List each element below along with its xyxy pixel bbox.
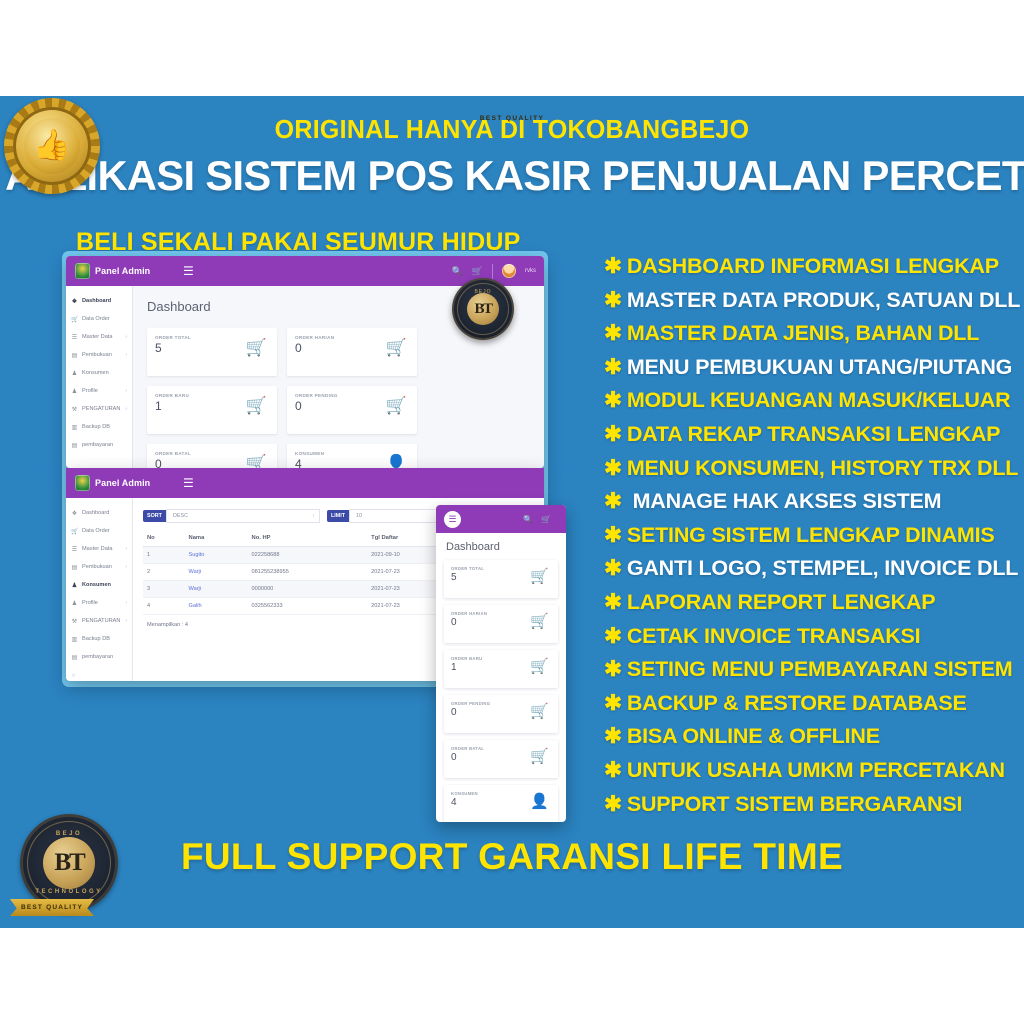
sidebar-item-master-data[interactable]: ☰Master Data› [66,540,132,558]
user-plus-icon: 👤 [386,455,407,468]
table-cell-hp: 0000000 [248,581,368,598]
wrench-icon: ⚒ [71,406,78,413]
chevron-right-icon: › [125,600,127,606]
mobile-stat-card[interactable]: ORDER PENDING0🛒 [444,695,558,733]
table-cell-nama: Sugito [185,547,248,564]
asterisk-icon: ✱ [604,691,622,715]
feature-label: BISA ONLINE & OFFLINE [627,724,880,748]
chevron-right-icon: › [125,618,127,624]
badge-crown-text: BEJO [452,289,514,295]
sidebar-item-backup-db[interactable]: ▥Backup DB [66,418,132,436]
feature-label: MENU PEMBUKUAN UTANG/PIUTANG [627,355,1012,379]
sidebar-item-label: Master Data [82,546,112,552]
feature-item: ✱CETAK INVOICE TRANSAKSI [604,620,1024,654]
stat-card[interactable]: ORDER PENDING0🛒 [287,386,417,434]
feature-label: CETAK INVOICE TRANSAKSI [627,624,921,648]
asterisk-icon: ✱ [604,657,622,681]
stat-card[interactable]: ORDER BARU1🛒 [147,386,277,434]
sidebar-item-label: Backup DB [82,636,110,642]
avatar[interactable] [502,264,516,278]
table-cell-hp: 081255238955 [248,564,368,581]
sidebar-item-label: Data Order [82,316,110,322]
user-icon: ♟ [71,582,78,589]
file-icon: ☰ [71,546,78,553]
feature-label: MANAGE HAK AKSES SISTEM [627,489,942,513]
seal-core: 👍 [24,118,80,174]
wrench-icon: ⚒ [71,618,78,625]
sidebar-item-dashboard[interactable]: ❖Dashboard [66,292,132,310]
stat-card[interactable]: ORDER BATAL0🛒 [147,444,277,468]
cart-icon: 🛒 [530,749,549,764]
chevron-right-icon: › [125,546,127,552]
sidebar-item-data-order[interactable]: 🛒Data Order [66,310,132,328]
table-cell-nama: Warji [185,581,248,598]
feature-label: LAPORAN REPORT LENGKAP [627,590,936,614]
sidebar-footer: © [66,666,132,678]
sidebar-item-profile[interactable]: ♟Profile› [66,382,132,400]
bt-watermark-badge: BEJO BT [452,278,514,340]
app-topbar-2: Panel Admin ☰ [66,468,544,498]
sidebar-item-label: pembayaran [82,654,113,660]
asterisk-icon: ✱ [604,523,622,547]
mobile-stat-card[interactable]: ORDER BARU1🛒 [444,650,558,688]
sidebar-item-pembayaran[interactable]: ▤pembayaran [66,436,132,454]
seal-bottom-text: TECHNOLOGY [20,889,118,895]
sidebar-item-data-order[interactable]: 🛒Data Order [66,522,132,540]
sidebar-item-master-data[interactable]: ☰Master Data› [66,328,132,346]
asterisk-icon: ✱ [604,590,622,614]
sidebar-item-konsumen[interactable]: ♟Konsumen [66,364,132,382]
app-brand-label-2: Panel Admin [95,478,150,488]
sidebar-item-label: pembayaran [82,442,113,448]
mobile-topbar: ☰ 🔍 🛒 [436,505,566,533]
sidebar-2: ❖Dashboard🛒Data Order☰Master Data›▤Pembu… [66,498,133,681]
sidebar-item-pembukuan[interactable]: ▤Pembukuan› [66,346,132,364]
bejo-technology-seal: BEJO BT TECHNOLOGY [20,814,118,912]
sidebar-item-pembukuan[interactable]: ▤Pembukuan› [66,558,132,576]
sidebar-item-label: Dashboard [82,298,111,304]
table-cell-hp: 022258688 [248,547,368,564]
mobile-stat-card[interactable]: ORDER TOTAL5🛒 [444,560,558,598]
app-brand-label: Panel Admin [95,266,150,276]
asterisk-icon: ✱ [604,321,622,345]
mobile-topbar-actions: 🔍 🛒 [523,515,559,524]
limit-tag: LIMIT [327,510,349,522]
table-cell-nama: Galih [185,598,248,615]
payment-icon: ▤ [71,442,78,449]
feature-item: ✱ MANAGE HAK AKSES SISTEM [604,485,1024,519]
file-icon: ☰ [71,334,78,341]
cart-icon: 🛒 [71,316,78,323]
sidebar-item-label: Dashboard [82,510,109,516]
stat-card[interactable]: ORDER HARIAN0🛒 [287,328,417,376]
table-column-header[interactable]: Nama [185,530,248,547]
feature-item: ✱SETING SISTEM LENGKAP DINAMIS [604,519,1024,553]
cart-icon: 🛒 [530,614,549,629]
mobile-stat-card[interactable]: ORDER BATAL0🛒 [444,740,558,778]
feature-label: UNTUK USAHA UMKM PERCETAKAN [627,758,1005,782]
sidebar-item-pembayaran[interactable]: ▤pembayaran [66,648,132,666]
mobile-stat-card-list: ORDER TOTAL5🛒ORDER HARIAN0🛒ORDER BARU1🛒O… [436,553,566,822]
table-cell-no: 3 [143,581,185,598]
dashboard-icon: ❖ [71,510,78,517]
thumbs-up-icon: 👍 [33,131,70,161]
sidebar-item-label: Master Data [82,334,112,340]
feature-label: BACKUP & RESTORE DATABASE [627,691,967,715]
mobile-stat-card[interactable]: KONSUMEN4👤 [444,785,558,822]
feature-item: ✱UNTUK USAHA UMKM PERCETAKAN [604,754,1024,788]
sidebar-item-label: Data Order [82,528,110,534]
cart-icon: 🛒 [530,659,549,674]
sidebar-item-pengaturan[interactable]: ⚒PENGATURAN› [66,612,132,630]
stat-card[interactable]: ORDER TOTAL5🛒 [147,328,277,376]
sidebar-item-label: Profile [82,600,98,606]
topbar-actions: 🔍 🛒 rvks [452,264,536,279]
app-logo-icon [75,475,90,491]
asterisk-icon: ✱ [604,624,622,648]
feature-item: ✱BACKUP & RESTORE DATABASE [604,687,1024,721]
feature-label: SUPPORT SISTEM BERGARANSI [627,792,962,816]
feature-label: GANTI LOGO, STEMPEL, INVOICE DLL [627,556,1018,580]
table-column-header[interactable]: No. HP [248,530,368,547]
feature-label: DASHBOARD INFORMASI LENGKAP [627,254,999,278]
seal-ribbon: BEST QUALITY [10,899,94,916]
app-brand-2[interactable]: Panel Admin [66,475,163,491]
feature-item: ✱GANTI LOGO, STEMPEL, INVOICE DLL [604,552,1024,586]
chevron-right-icon: › [125,388,127,394]
feature-item: ✱MODUL KEUANGAN MASUK/KELUAR [604,384,1024,418]
sidebar: ❖Dashboard🛒Data Order☰Master Data›▤Pembu… [66,286,133,468]
feature-item: ✱DASHBOARD INFORMASI LENGKAP [604,250,1024,284]
cart-icon: 🛒 [71,528,78,535]
user-icon: ♟ [71,370,78,377]
chevron-right-icon: › [125,352,127,358]
sidebar-item-konsumen[interactable]: ♟Konsumen [66,576,132,594]
stat-card[interactable]: KONSUMEN4👤 [287,444,417,468]
table-cell-no: 4 [143,598,185,615]
mobile-page-title: Dashboard [436,533,566,553]
limit-value: 10 [356,513,362,519]
asterisk-icon: ✱ [604,758,622,782]
poster-canvas: ORIGINAL HANYA DI TOKOBANGBEJO APLIKASI … [0,96,1024,928]
chevron-right-icon: › [125,564,127,570]
feature-item: ✱MASTER DATA JENIS, BAHAN DLL [604,317,1024,351]
feature-label: DATA REKAP TRANSAKSI LENGKAP [627,422,1000,446]
asterisk-icon: ✱ [604,388,622,412]
search-icon[interactable]: 🔍 [523,515,533,524]
chevron-right-icon: › [125,334,127,340]
database-icon: ▥ [71,424,78,431]
cart-icon: 🛒 [246,397,267,414]
table-cell-no: 2 [143,564,185,581]
chevron-down-icon: ↕ [312,513,315,519]
asterisk-icon: ✱ [604,556,622,580]
feature-label: MENU KONSUMEN, HISTORY TRX DLL [627,456,1018,480]
feature-item: ✱SUPPORT SISTEM BERGARANSI [604,788,1024,822]
feature-list: ✱DASHBOARD INFORMASI LENGKAP✱MASTER DATA… [604,250,1024,821]
table-column-header[interactable]: No [143,530,185,547]
feature-label: SETING SISTEM LENGKAP DINAMIS [627,523,995,547]
asterisk-icon: ✱ [604,724,622,748]
sidebar-item-label: Konsumen [82,582,111,588]
feature-label: MASTER DATA PRODUK, SATUAN DLL [627,288,1020,312]
sidebar-item-label: PENGATURAN [82,618,120,624]
cart-icon: 🛒 [386,339,407,356]
book-icon: ▤ [71,564,78,571]
app-logo-icon [75,263,90,279]
sidebar-item-backup-db[interactable]: ▥Backup DB [66,630,132,648]
cart-icon[interactable]: 🛒 [472,266,483,277]
sort-value: DESC [173,513,188,519]
feature-item: ✱MENU KONSUMEN, HISTORY TRX DLL [604,452,1024,486]
user-icon: ♟ [71,600,78,607]
user-icon: ♟ [71,388,78,395]
sidebar-item-profile[interactable]: ♟Profile› [66,594,132,612]
sidebar-item-label: Konsumen [82,370,109,376]
sort-select[interactable]: DESC ↕ [166,509,320,523]
hamburger-icon[interactable]: ☰ [183,477,194,489]
sidebar-item-label: Pembukuan [82,564,112,570]
feature-item: ✱MENU PEMBUKUAN UTANG/PIUTANG [604,351,1024,385]
asterisk-icon: ✱ [604,456,622,480]
cart-icon: 🛒 [386,397,407,414]
hamburger-icon[interactable]: ☰ [183,265,194,277]
sidebar-item-dashboard[interactable]: ❖Dashboard [66,504,132,522]
topbar-divider [492,264,493,279]
payment-icon: ▤ [71,654,78,661]
hamburger-icon[interactable]: ☰ [444,511,461,528]
feature-item: ✱BISA ONLINE & OFFLINE [604,720,1024,754]
table-cell-no: 1 [143,547,185,564]
seal-top-text: BEJO [20,831,118,837]
cart-icon[interactable]: 🛒 [541,515,551,524]
sort-tag: SORT [143,510,166,522]
cart-icon: 🛒 [246,455,267,468]
asterisk-icon: ✱ [604,355,622,379]
dashboard-icon: ❖ [71,298,78,305]
sidebar-item-label: Pembukuan [82,352,112,358]
feature-item: ✱SETING MENU PEMBAYARAN SISTEM [604,653,1024,687]
username-label: rvks [525,268,536,274]
cart-plus-icon: 🛒 [530,569,549,584]
book-icon: ▤ [71,352,78,359]
mobile-dashboard-window: ☰ 🔍 🛒 Dashboard ORDER TOTAL5🛒ORDER HARIA… [436,505,566,822]
cart-plus-icon: 🛒 [246,339,267,356]
sidebar-item-label: PENGATURAN [82,406,120,412]
feature-label: MASTER DATA JENIS, BAHAN DLL [627,321,979,345]
asterisk-icon: ✱ [604,489,622,513]
asterisk-icon: ✱ [604,422,622,446]
seal-arc-text: BEST QUALITY [0,115,1024,122]
mobile-stat-card[interactable]: ORDER HARIAN0🛒 [444,605,558,643]
asterisk-icon: ✱ [604,254,622,278]
sidebar-item-label: Profile [82,388,98,394]
sidebar-item-label: Backup DB [82,424,110,430]
poster-headline: APLIKASI SISTEM POS KASIR PENJUALAN PERC… [5,152,1019,200]
cart-icon: 🛒 [530,704,549,719]
bottom-banner: FULL SUPPORT GARANSI LIFE TIME [0,836,1024,878]
user-plus-icon: 👤 [530,794,549,809]
feature-item: ✱MASTER DATA PRODUK, SATUAN DLL [604,284,1024,318]
asterisk-icon: ✱ [604,288,622,312]
feature-label: MODUL KEUANGAN MASUK/KELUAR [627,388,1011,412]
chevron-right-icon: › [125,406,127,412]
app-brand[interactable]: Panel Admin [66,263,163,279]
feature-label: SETING MENU PEMBAYARAN SISTEM [627,657,1013,681]
asterisk-icon: ✱ [604,792,622,816]
feature-item: ✱DATA REKAP TRANSAKSI LENGKAP [604,418,1024,452]
feature-item: ✱LAPORAN REPORT LENGKAP [604,586,1024,620]
search-icon[interactable]: 🔍 [452,266,463,277]
database-icon: ▥ [71,636,78,643]
table-cell-nama: Warji [185,564,248,581]
sidebar-item-pengaturan[interactable]: ⚒PENGATURAN› [66,400,132,418]
table-cell-hp: 0325562333 [248,598,368,615]
